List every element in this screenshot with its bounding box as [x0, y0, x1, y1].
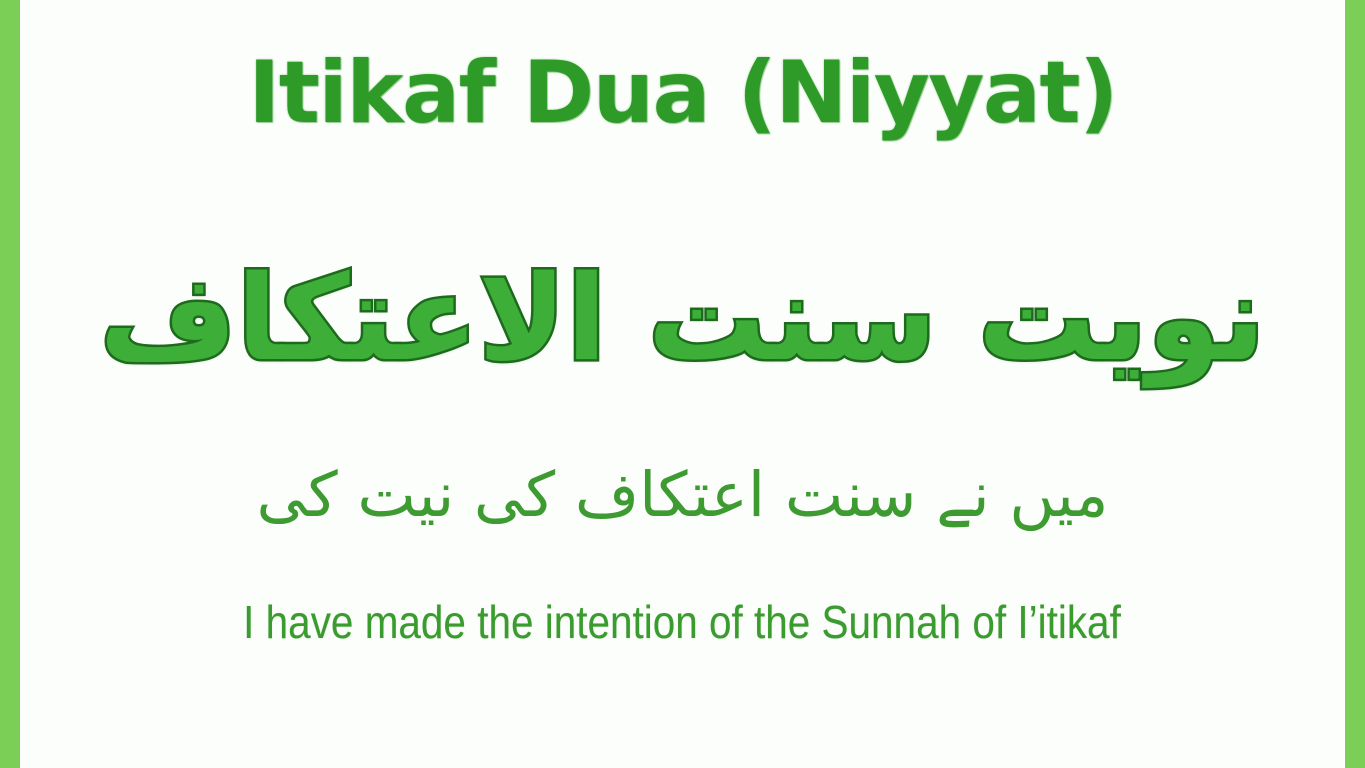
page-title: Itikaf Dua (Niyyat): [20, 48, 1345, 138]
right-border-bar: [1345, 0, 1365, 768]
arabic-dua-text: نويت سنت الاعتكاف: [20, 245, 1345, 393]
poster-content: Itikaf Dua (Niyyat) نويت سنت الاعتكاف می…: [20, 0, 1345, 768]
left-border-bar: [0, 0, 20, 768]
itikaf-dua-poster: Itikaf Dua (Niyyat) نويت سنت الاعتكاف می…: [0, 0, 1365, 768]
english-translation-text: I have made the intention of the Sunnah …: [242, 592, 1122, 653]
urdu-translation-text: میں نے سنت اعتکاف کی نیت کی: [20, 455, 1345, 536]
